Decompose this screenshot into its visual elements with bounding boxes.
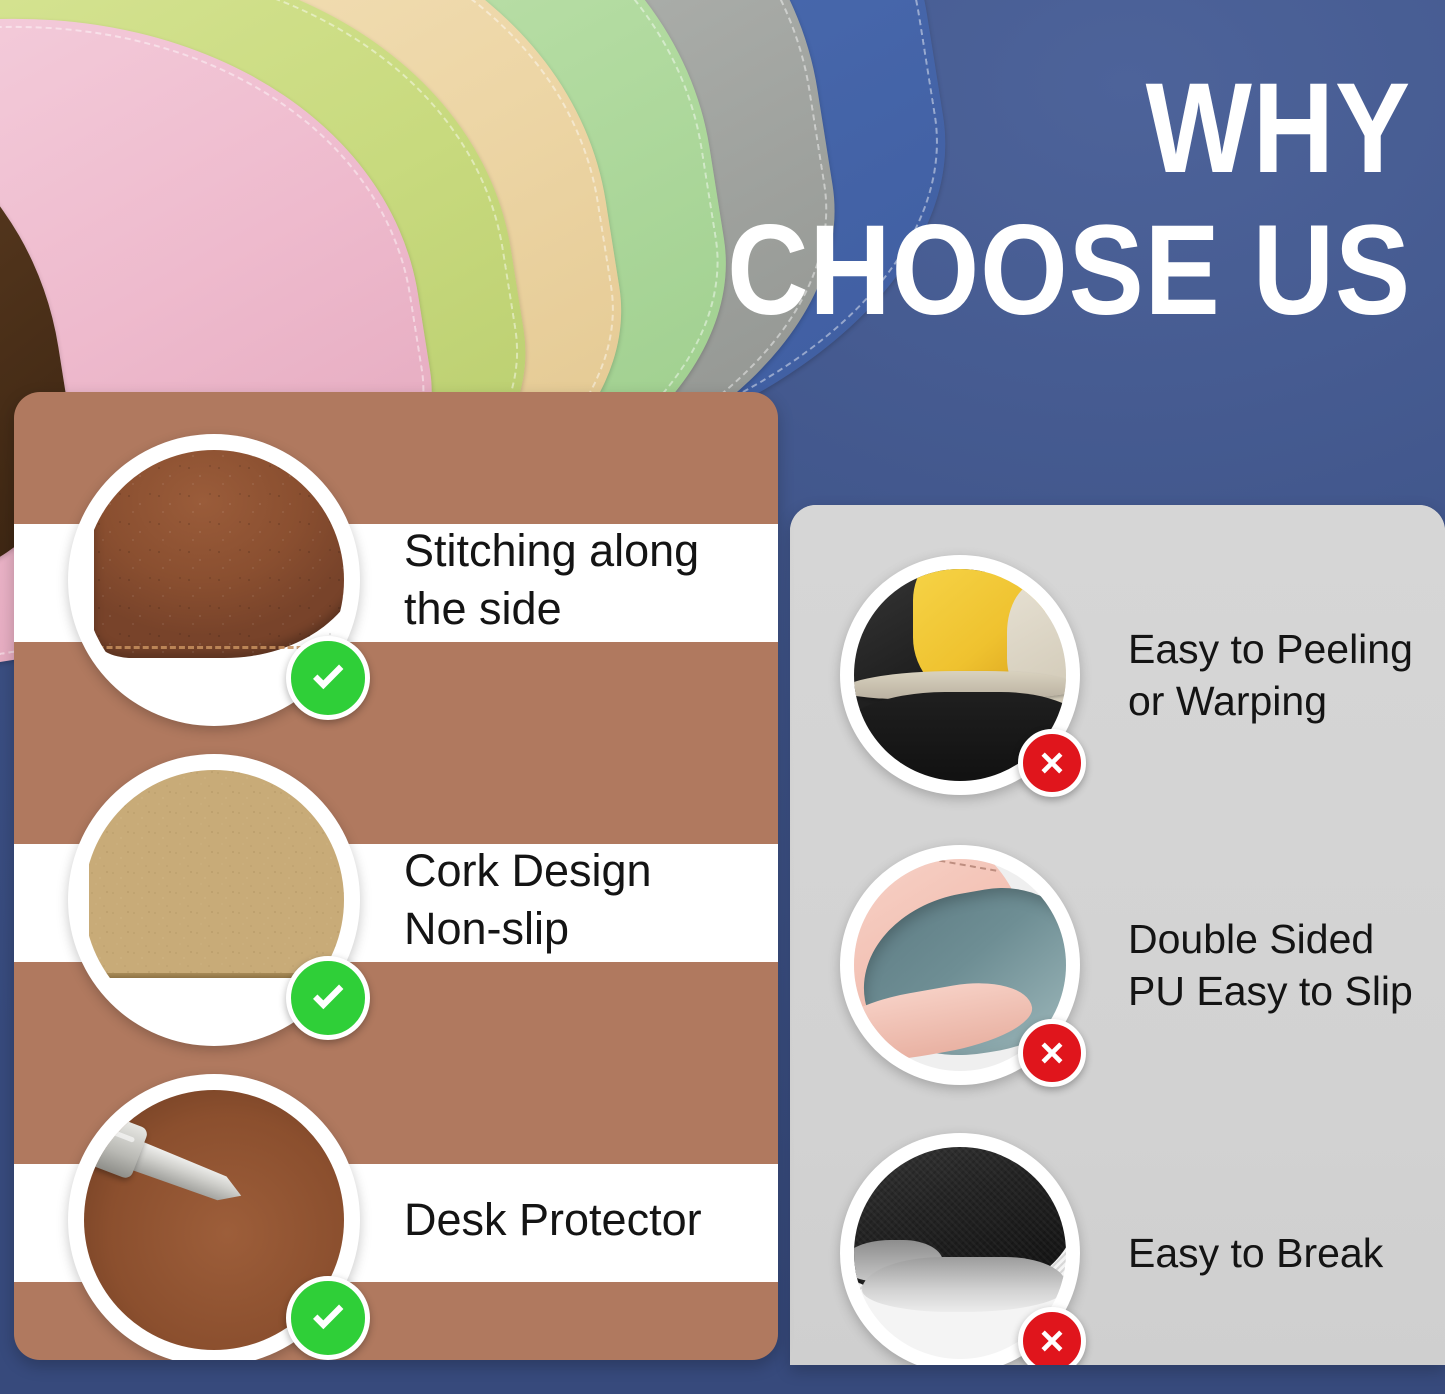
cross-icon	[1018, 1019, 1086, 1087]
pros-photo-wrap-2	[68, 754, 360, 1046]
cross-icon	[1018, 1307, 1086, 1365]
title-line-2: CHOOSE US	[707, 212, 1411, 330]
pros-row-2: Cork Design Non-slip	[68, 754, 764, 1046]
cons-row-1: Easy to Peeling or Warping	[840, 555, 1445, 795]
cross-icon	[1018, 729, 1086, 797]
pros-label-3: Desk Protector	[404, 1191, 764, 1249]
cons-label-3: Easy to Break	[1128, 1227, 1445, 1279]
pros-label-2: Cork Design Non-slip	[404, 842, 764, 957]
cons-row-2: Double Sided PU Easy to Slip	[840, 845, 1445, 1085]
cons-panel: Easy to Peeling or Warping Double Sided	[790, 505, 1445, 1365]
pros-panel: Stitching along the side Cork Design Non…	[14, 392, 778, 1360]
cons-label-2: Double Sided PU Easy to Slip	[1128, 913, 1445, 1018]
pros-row-3: Desk Protector	[68, 1074, 764, 1360]
pros-row-1: Stitching along the side	[68, 434, 764, 726]
cons-row-3: Easy to Break	[840, 1133, 1445, 1365]
check-icon	[286, 636, 370, 720]
cons-label-1: Easy to Peeling or Warping	[1128, 623, 1445, 728]
cons-photo-wrap-2	[840, 845, 1080, 1085]
cons-photo-wrap-1	[840, 555, 1080, 795]
page-title: WHY CHOOSE US	[611, 70, 1411, 330]
pros-label-1: Stitching along the side	[404, 522, 764, 637]
check-icon	[286, 956, 370, 1040]
check-icon	[286, 1276, 370, 1360]
title-line-1: WHY	[707, 70, 1411, 188]
cons-photo-wrap-3	[840, 1133, 1080, 1365]
pros-photo-wrap-3	[68, 1074, 360, 1360]
pros-photo-wrap-1	[68, 434, 360, 726]
